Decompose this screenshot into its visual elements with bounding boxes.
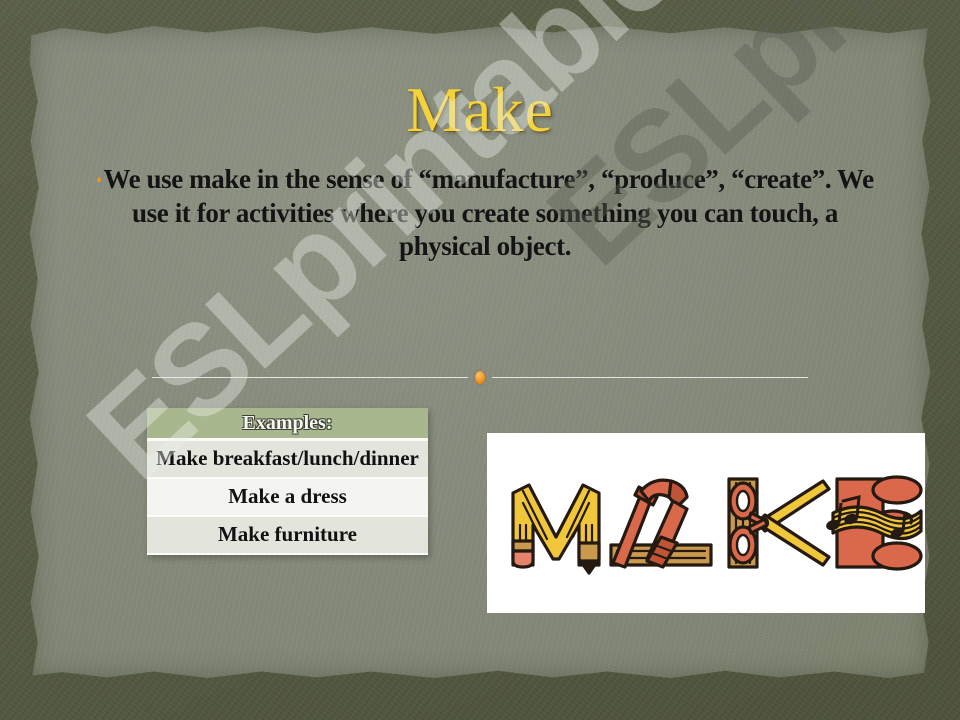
table-header-cell: Examples: [147, 408, 428, 441]
letter-m-pencil [513, 485, 599, 573]
letter-k-scissors [729, 479, 829, 567]
table-cell-example-2: Make a dress [147, 479, 428, 517]
table-header-row: Examples: [147, 408, 428, 441]
letter-e-music [825, 477, 921, 569]
section-divider [152, 371, 808, 385]
letter-a-hammer [611, 480, 711, 567]
slide: ESLprintables.com ESLprintables.com Make… [0, 0, 960, 720]
page-title: Make [0, 74, 960, 147]
table-row: Make a dress [147, 479, 428, 517]
bullet-icon: • [96, 172, 101, 189]
divider-line-right [492, 377, 808, 378]
divider-dot-icon [475, 371, 485, 384]
make-illustration: .ol { stroke:#241a12; stroke-width:3.2; … [487, 433, 925, 613]
table-cell-example-1: Make breakfast/lunch/dinner [147, 441, 428, 479]
table-row: Make furniture [147, 517, 428, 555]
examples-table: Examples: Make breakfast/lunch/dinner Ma… [147, 408, 428, 555]
table-cell-example-3: Make furniture [147, 517, 428, 555]
divider-line-left [152, 377, 468, 378]
body-paragraph: •We use make in the sense of “manufactur… [95, 163, 875, 263]
body-paragraph-text: We use make in the sense of “manufacture… [103, 164, 873, 261]
table-row: Make breakfast/lunch/dinner [147, 441, 428, 479]
make-illustration-svg: .ol { stroke:#241a12; stroke-width:3.2; … [487, 433, 925, 613]
